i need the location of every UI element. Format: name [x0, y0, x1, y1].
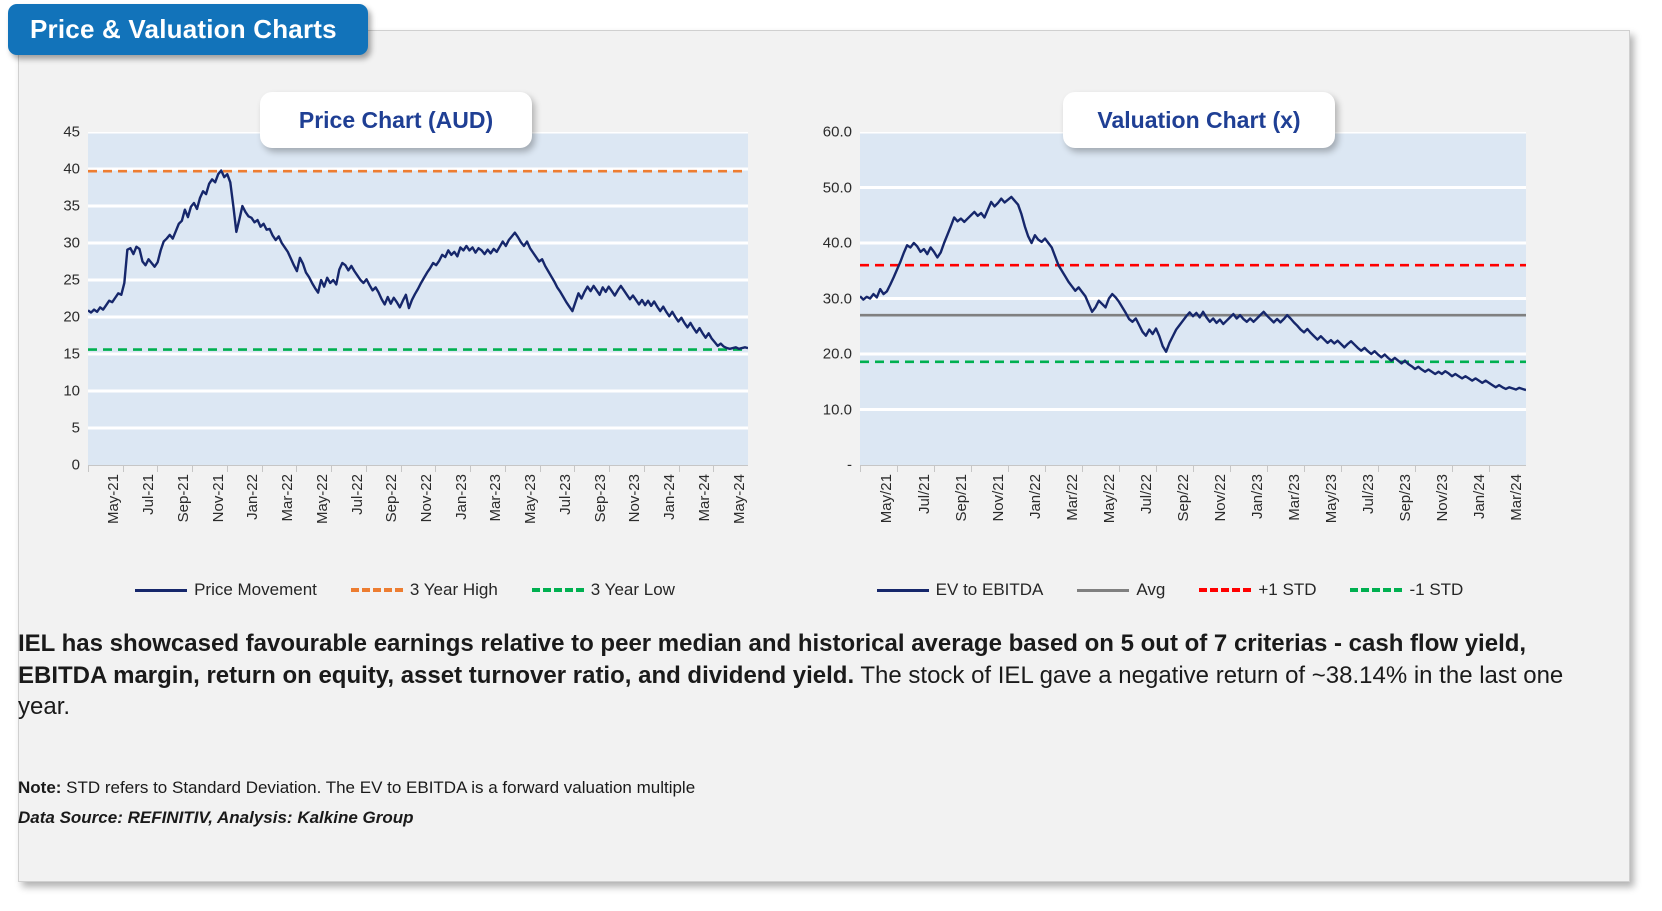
- legend-item[interactable]: 3 Year Low: [532, 580, 675, 600]
- valuation-chart: -10.020.030.040.050.060.0 May/21Jul/21Se…: [800, 132, 1540, 602]
- valuation-y-axis-labels: -10.020.030.040.050.060.0: [800, 132, 858, 465]
- valuation-chart-title-pill: Valuation Chart (x): [1063, 92, 1335, 148]
- price-x-tick: [123, 465, 124, 472]
- price-x-tick: [470, 465, 471, 472]
- price-x-tick: [227, 465, 228, 472]
- price-x-tick-label: Jul-21: [140, 474, 157, 515]
- valuation-y-tick-label: 20.0: [823, 346, 852, 363]
- price-y-tick-label: 20: [63, 309, 80, 326]
- valuation-chart-title: Valuation Chart (x): [1097, 107, 1300, 134]
- section-title-tab: Price & Valuation Charts: [8, 4, 368, 55]
- legend-item[interactable]: -1 STD: [1350, 580, 1463, 600]
- valuation-x-tick: [1489, 465, 1490, 472]
- legend-label: EV to EBITDA: [936, 580, 1044, 600]
- valuation-x-tick: [1119, 465, 1120, 472]
- legend-item[interactable]: Avg: [1077, 580, 1165, 600]
- price-x-tick: [540, 465, 541, 472]
- valuation-x-tick: [1267, 465, 1268, 472]
- legend-label: Price Movement: [194, 580, 317, 600]
- price-plot-area: [88, 132, 748, 465]
- valuation-y-tick-label: 30.0: [823, 290, 852, 307]
- note-text: STD refers to Standard Deviation. The EV…: [61, 778, 695, 797]
- valuation-x-tick-label: Nov/21: [990, 474, 1007, 522]
- valuation-x-tick: [1415, 465, 1416, 472]
- price-x-tick: [88, 465, 89, 472]
- price-x-tick-label: May-24: [731, 474, 748, 524]
- price-x-tick-label: Nov-22: [418, 474, 435, 522]
- legend-item[interactable]: EV to EBITDA: [877, 580, 1044, 600]
- price-plot-wrap: 051015202530354045 May-21Jul-21Sep-21Nov…: [40, 132, 770, 472]
- price-chart-legend: Price Movement3 Year High3 Year Low: [40, 580, 770, 600]
- legend-item[interactable]: Price Movement: [135, 580, 317, 600]
- valuation-x-tick: [1156, 465, 1157, 472]
- valuation-x-axis-ticks: [860, 465, 1526, 472]
- valuation-x-axis-labels: May/21Jul/21Sep/21Nov/21Jan/22Mar/22May/…: [860, 474, 1526, 574]
- valuation-x-tick-label: Jul/21: [916, 474, 933, 514]
- price-x-tick: [157, 465, 158, 472]
- valuation-x-tick-label: May/21: [878, 474, 895, 523]
- price-x-tick: [262, 465, 263, 472]
- valuation-plot-area: [860, 132, 1526, 465]
- valuation-x-tick: [1193, 465, 1194, 472]
- legend-swatch-icon: [351, 588, 403, 592]
- valuation-x-tick-label: Jan/23: [1249, 474, 1266, 519]
- price-x-tick-label: Jul-22: [349, 474, 366, 515]
- valuation-plot-svg: [860, 132, 1526, 465]
- price-y-tick-label: 35: [63, 198, 80, 215]
- valuation-x-tick: [1008, 465, 1009, 472]
- valuation-x-tick-label: Mar/22: [1064, 474, 1081, 521]
- legend-swatch-icon: [1350, 588, 1402, 592]
- valuation-x-tick-label: Mar/24: [1508, 474, 1525, 521]
- valuation-x-tick: [1082, 465, 1083, 472]
- price-y-tick-label: 40: [63, 161, 80, 178]
- valuation-x-tick: [1452, 465, 1453, 472]
- slide-root: Price & Valuation Charts Price Chart (AU…: [0, 0, 1662, 911]
- valuation-x-tick-label: Mar/23: [1286, 474, 1303, 521]
- legend-label: +1 STD: [1258, 580, 1316, 600]
- price-x-tick: [192, 465, 193, 472]
- valuation-x-tick-label: Sep/21: [953, 474, 970, 522]
- price-x-tick-label: Jan-22: [244, 474, 261, 520]
- price-x-tick-label: Mar-22: [279, 474, 296, 522]
- price-x-tick-label: Jan-24: [661, 474, 678, 520]
- valuation-x-tick-label: Sep/22: [1175, 474, 1192, 522]
- valuation-x-tick: [971, 465, 972, 472]
- price-x-tick: [435, 465, 436, 472]
- price-x-tick: [609, 465, 610, 472]
- valuation-y-tick-label: 60.0: [823, 124, 852, 141]
- note-label: Note:: [18, 778, 61, 797]
- legend-swatch-icon: [135, 589, 187, 592]
- legend-label: 3 Year Low: [591, 580, 675, 600]
- valuation-x-tick: [1304, 465, 1305, 472]
- price-y-tick-label: 15: [63, 346, 80, 363]
- price-y-tick-label: 25: [63, 272, 80, 289]
- legend-swatch-icon: [1199, 588, 1251, 592]
- price-x-tick: [296, 465, 297, 472]
- legend-item[interactable]: +1 STD: [1199, 580, 1316, 600]
- legend-label: -1 STD: [1409, 580, 1463, 600]
- price-x-tick: [644, 465, 645, 472]
- price-x-tick-label: Mar-24: [696, 474, 713, 522]
- price-chart-title-pill: Price Chart (AUD): [260, 92, 532, 148]
- valuation-x-tick-label: May/22: [1101, 474, 1118, 523]
- price-x-tick-label: Nov-21: [210, 474, 227, 522]
- commentary-text: IEL has showcased favourable earnings re…: [18, 628, 1578, 723]
- valuation-y-tick-label: 10.0: [823, 401, 852, 418]
- valuation-x-tick-label: Sep/23: [1397, 474, 1414, 522]
- valuation-x-tick: [1230, 465, 1231, 472]
- price-plot-svg: [88, 132, 748, 465]
- price-x-tick-label: Sep-22: [383, 474, 400, 522]
- price-chart: 051015202530354045 May-21Jul-21Sep-21Nov…: [40, 132, 770, 602]
- price-x-axis-labels: May-21Jul-21Sep-21Nov-21Jan-22Mar-22May-…: [88, 474, 748, 574]
- price-x-tick: [331, 465, 332, 472]
- valuation-x-tick: [1378, 465, 1379, 472]
- legend-item[interactable]: 3 Year High: [351, 580, 498, 600]
- price-x-tick-label: May-22: [314, 474, 331, 524]
- valuation-y-tick-label: 40.0: [823, 235, 852, 252]
- legend-swatch-icon: [877, 589, 929, 592]
- valuation-x-tick: [860, 465, 861, 472]
- price-x-tick: [401, 465, 402, 472]
- price-x-tick: [679, 465, 680, 472]
- price-x-tick-label: Jul-23: [557, 474, 574, 515]
- valuation-x-tick: [897, 465, 898, 472]
- legend-label: 3 Year High: [410, 580, 498, 600]
- valuation-x-tick-label: Jan/22: [1027, 474, 1044, 519]
- valuation-x-tick-label: Nov/22: [1212, 474, 1229, 522]
- price-x-tick-label: Nov-23: [626, 474, 643, 522]
- valuation-x-tick-label: Jul/23: [1360, 474, 1377, 514]
- price-x-tick-label: Jan-23: [453, 474, 470, 520]
- price-y-tick-label: 30: [63, 235, 80, 252]
- price-y-tick-label: 45: [63, 124, 80, 141]
- price-x-tick-label: Sep-23: [592, 474, 609, 522]
- price-x-tick-label: Mar-23: [487, 474, 504, 522]
- legend-swatch-icon: [1077, 589, 1129, 592]
- price-x-tick: [574, 465, 575, 472]
- price-chart-title: Price Chart (AUD): [299, 107, 493, 134]
- valuation-x-tick-label: May/23: [1323, 474, 1340, 523]
- data-source: Data Source: REFINITIV, Analysis: Kalkin…: [18, 805, 1518, 831]
- legend-label: Avg: [1136, 580, 1165, 600]
- price-x-tick-label: May-23: [522, 474, 539, 524]
- valuation-chart-legend: EV to EBITDAAvg+1 STD-1 STD: [800, 580, 1540, 600]
- valuation-x-tick-label: Nov/23: [1434, 474, 1451, 522]
- valuation-x-tick-label: Jul/22: [1138, 474, 1155, 514]
- price-x-tick-label: Sep-21: [175, 474, 192, 522]
- footer-note: Note: STD refers to Standard Deviation. …: [18, 775, 1518, 832]
- valuation-y-tick-label: -: [847, 457, 852, 474]
- price-y-tick-label: 5: [72, 420, 80, 437]
- price-x-tick: [505, 465, 506, 472]
- legend-swatch-icon: [532, 588, 584, 592]
- price-x-tick: [366, 465, 367, 472]
- valuation-x-tick: [1045, 465, 1046, 472]
- price-x-tick: [713, 465, 714, 472]
- price-x-tick-label: May-21: [105, 474, 122, 524]
- valuation-plot-wrap: -10.020.030.040.050.060.0 May/21Jul/21Se…: [800, 132, 1540, 472]
- valuation-x-tick: [934, 465, 935, 472]
- price-series-line: [88, 170, 748, 348]
- valuation-y-tick-label: 50.0: [823, 179, 852, 196]
- valuation-x-tick: [1341, 465, 1342, 472]
- valuation-x-tick-label: Jan/24: [1471, 474, 1488, 519]
- price-x-axis-ticks: [88, 465, 748, 472]
- price-y-axis-labels: 051015202530354045: [40, 132, 86, 465]
- section-title: Price & Valuation Charts: [30, 14, 337, 45]
- price-y-tick-label: 10: [63, 383, 80, 400]
- price-y-tick-label: 0: [72, 457, 80, 474]
